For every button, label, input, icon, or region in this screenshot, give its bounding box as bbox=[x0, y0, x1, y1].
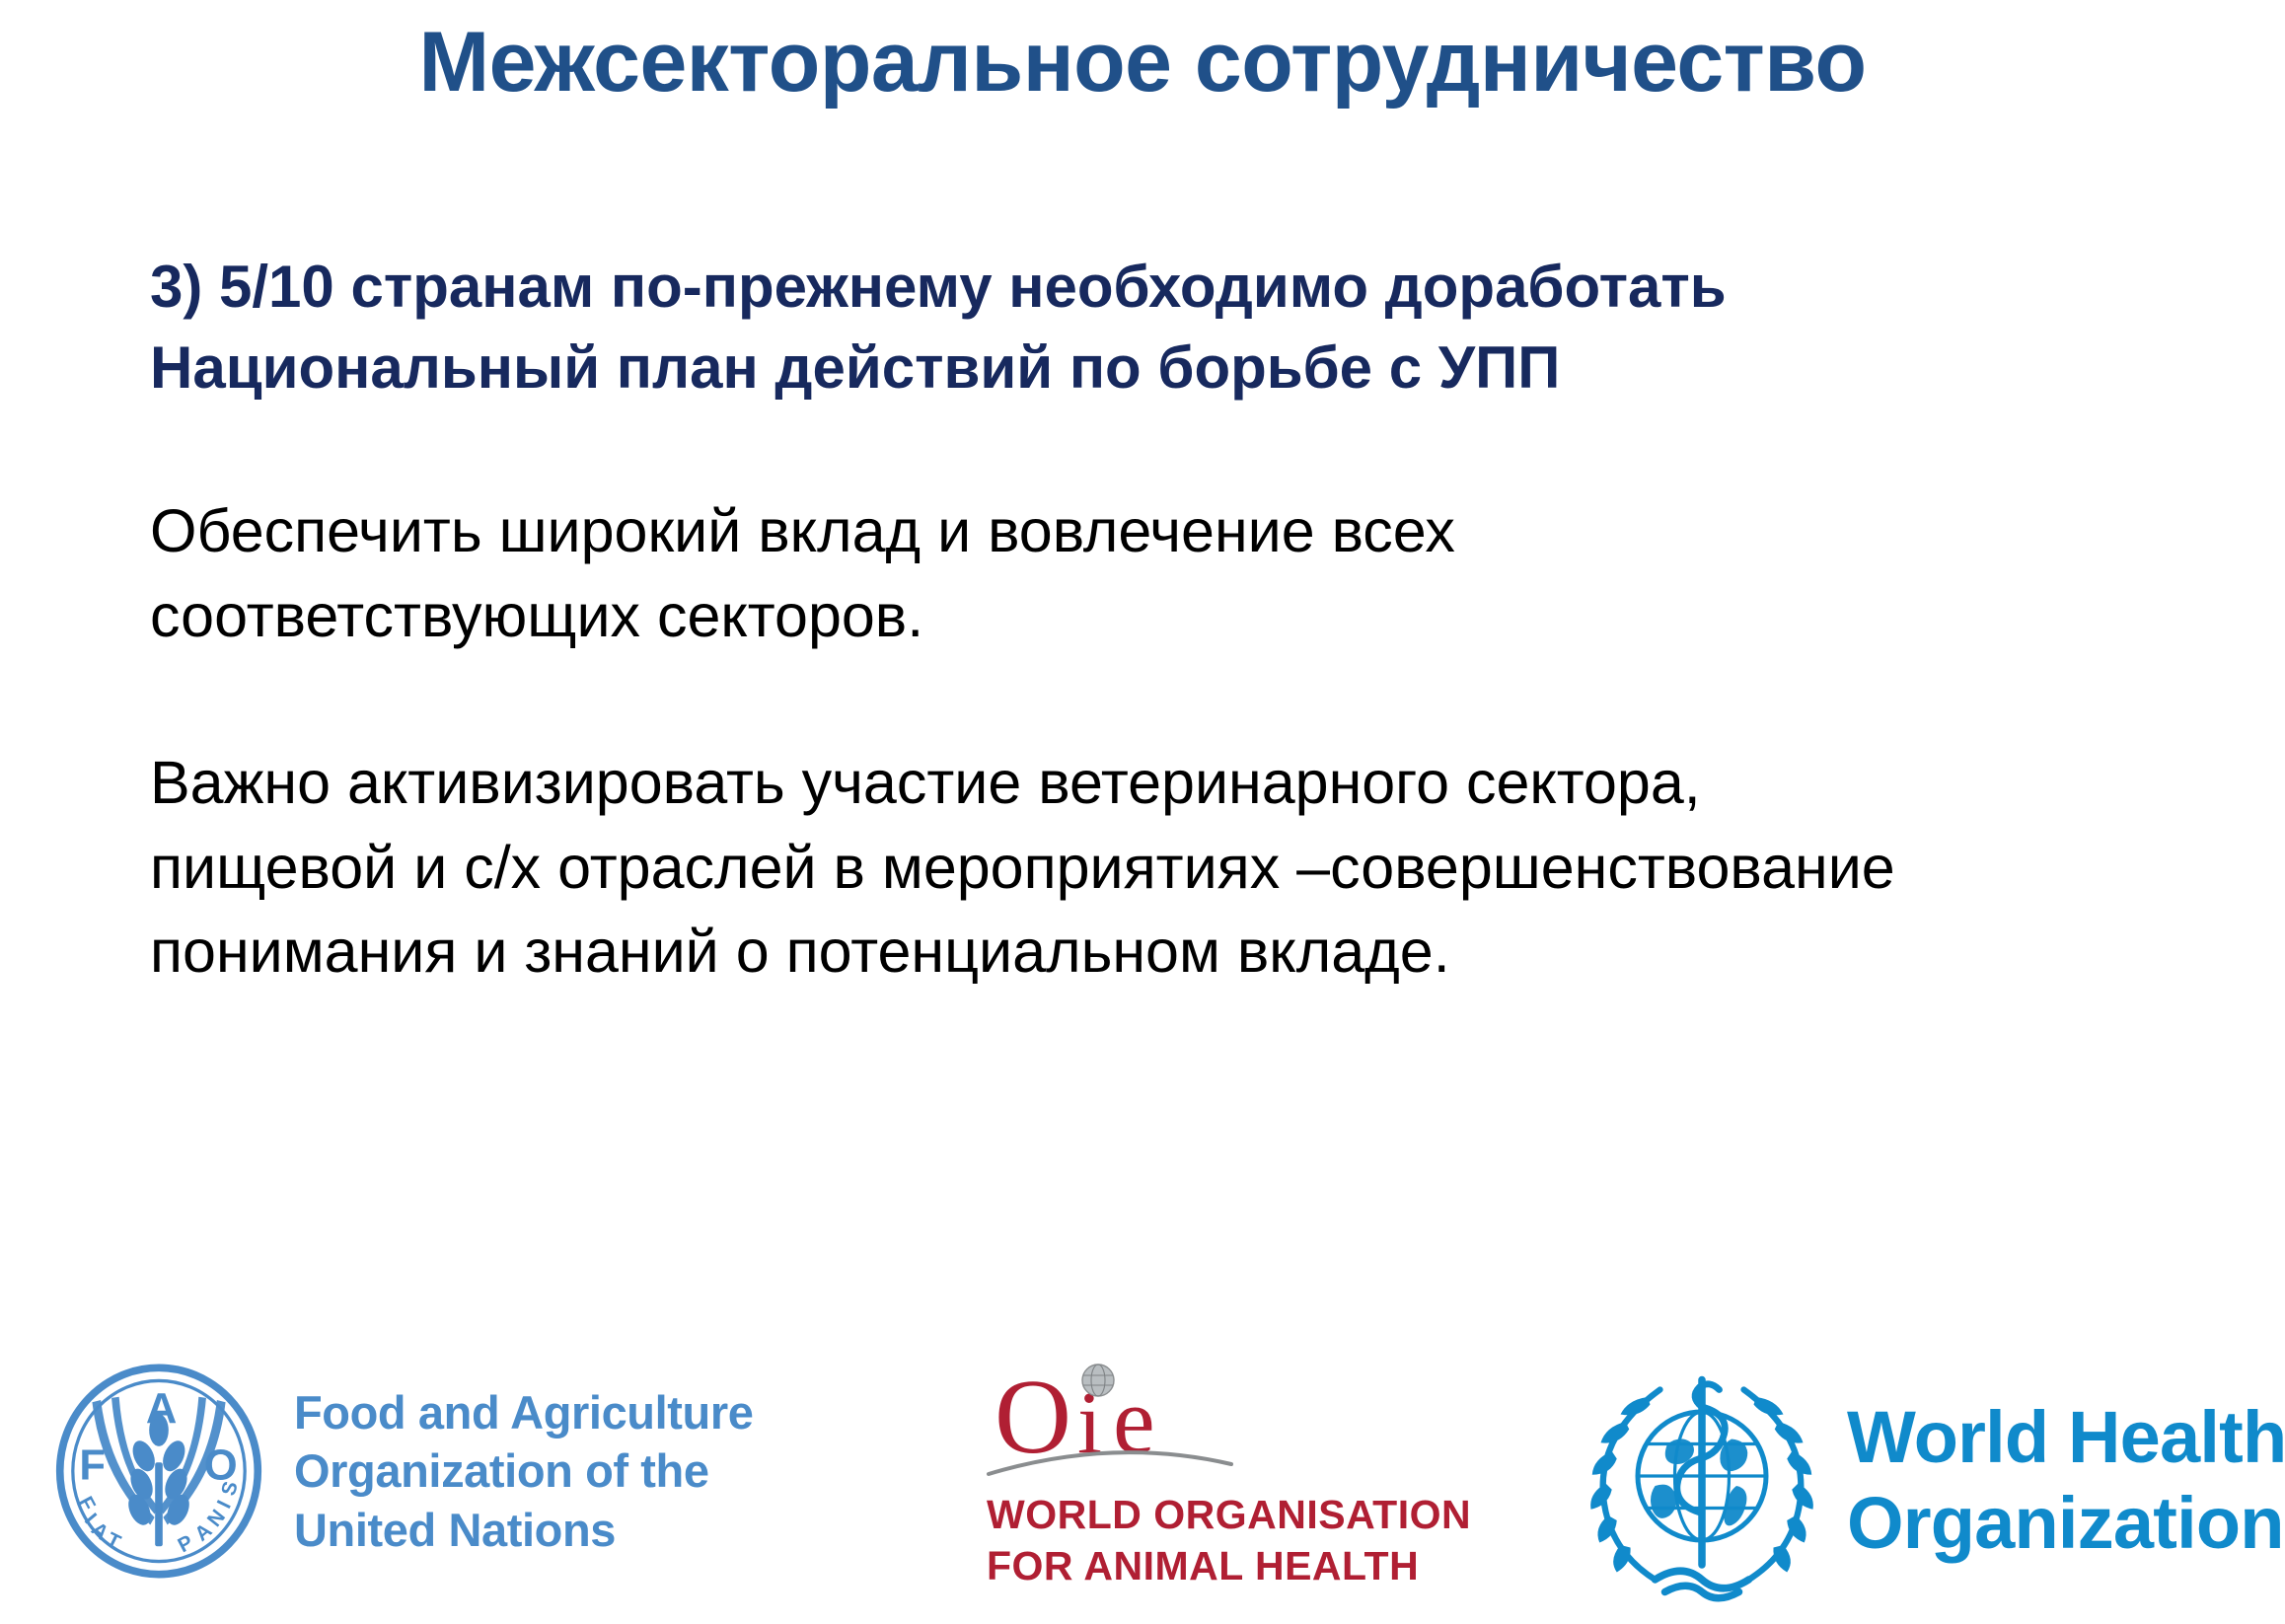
who-text-line-2: Organization bbox=[1847, 1481, 2285, 1567]
oie-logo: O i e WORLD ORGANISATION bbox=[987, 1362, 1471, 1591]
svg-text:e: e bbox=[1113, 1367, 1155, 1473]
slide-title: Межсекторальное сотрудничество bbox=[0, 18, 2285, 107]
svg-text:A: A bbox=[146, 1385, 177, 1433]
body-paragraph-1: Обеспечить широкий вклад и вовлечение вс… bbox=[150, 489, 2182, 658]
lead-line-2: Национальный план действий по борьбе с У… bbox=[150, 334, 1560, 401]
svg-text:F: F bbox=[79, 1442, 106, 1490]
oie-globe-icon bbox=[1082, 1365, 1114, 1396]
oie-text-line-1: WORLD ORGANISATION bbox=[987, 1490, 1471, 1541]
svg-text:S: S bbox=[217, 1479, 243, 1499]
body-paragraph-2: Важно активизировать участие ветеринарно… bbox=[150, 741, 2182, 994]
presentation-slide: Межсекторальное сотрудничество 3) 5/10 с… bbox=[0, 0, 2285, 1624]
oie-wordmark-icon: O i e bbox=[987, 1362, 1233, 1478]
who-logo: World Health Organization bbox=[1579, 1358, 2285, 1604]
fao-text-line-3: United Nations bbox=[294, 1501, 753, 1559]
paragraph-2-line-2: пищевой и с/х отраслей в мероприятиях –с… bbox=[150, 834, 1895, 901]
who-text-line-1: World Health bbox=[1847, 1395, 2285, 1481]
paragraph-spacer bbox=[150, 658, 2182, 741]
fao-logo-text: Food and Agriculture Organization of the… bbox=[294, 1383, 753, 1559]
paragraph-2-line-3: понимания и знаний о потенциальном вклад… bbox=[150, 918, 1450, 985]
lead-paragraph: 3) 5/10 странам по-прежнему необходимо д… bbox=[150, 247, 2182, 408]
fao-logo: F A O F I A T P A N I S Food and Agricul… bbox=[51, 1364, 753, 1579]
paragraph-2-line-1: Важно активизировать участие ветеринарно… bbox=[150, 749, 1701, 816]
paragraph-spacer bbox=[150, 408, 2182, 489]
fao-text-line-2: Organization of the bbox=[294, 1441, 753, 1500]
oie-text-line-2: FOR ANIMAL HEALTH bbox=[987, 1541, 1471, 1592]
paragraph-1-line-1: Обеспечить широкий вклад и вовлечение вс… bbox=[150, 497, 1455, 564]
fao-text-line-1: Food and Agriculture bbox=[294, 1383, 753, 1441]
who-emblem-icon bbox=[1579, 1358, 1825, 1604]
slide-body: 3) 5/10 странам по-прежнему необходимо д… bbox=[150, 247, 2182, 994]
who-logo-text: World Health Organization bbox=[1847, 1395, 2285, 1566]
fao-emblem-icon: F A O F I A T P A N I S bbox=[51, 1364, 266, 1579]
lead-line-1: 3) 5/10 странам по-прежнему необходимо д… bbox=[150, 254, 1727, 320]
paragraph-1-line-2: соответствующих секторов. bbox=[150, 582, 923, 649]
oie-logo-text: WORLD ORGANISATION FOR ANIMAL HEALTH bbox=[987, 1490, 1471, 1591]
partner-logo-strip: F A O F I A T P A N I S Food and Agricul… bbox=[0, 1354, 2285, 1624]
